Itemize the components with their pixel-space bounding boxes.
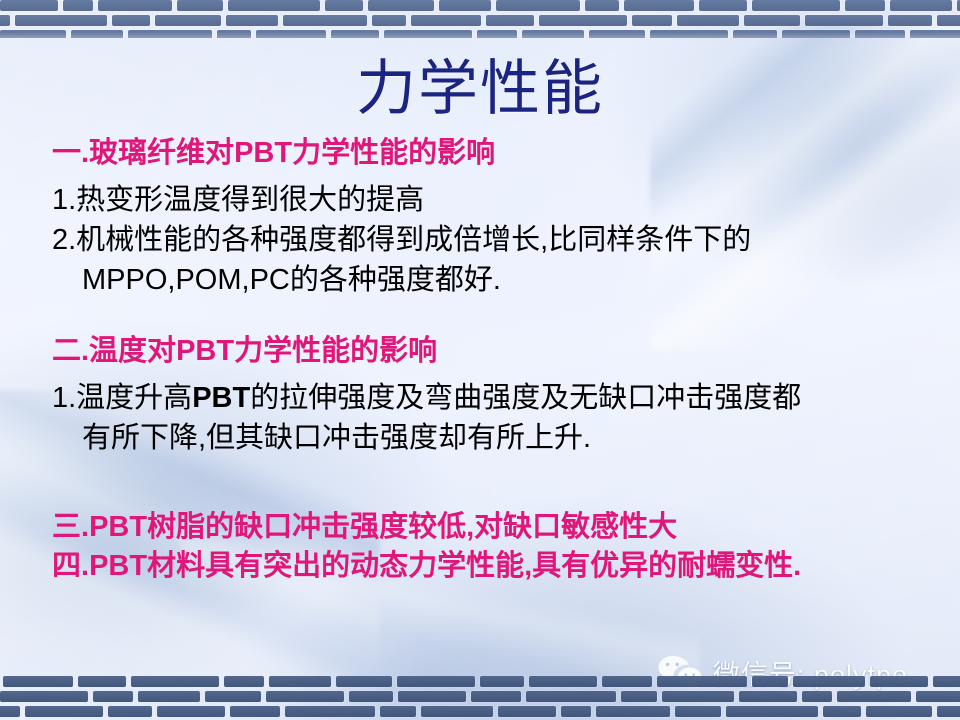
wechat-watermark: 微信号: polytpe <box>657 653 908 692</box>
wechat-logo-icon <box>657 654 703 692</box>
section-heading-2-latin: PBT <box>176 335 234 367</box>
slide-body: 一.玻璃纤维对PBT力学性能的影响 1.热变形温度得到很大的提高 2.机械性能的… <box>52 134 932 586</box>
slide-canvas: 力学性能 一.玻璃纤维对PBT力学性能的影响 1.热变形温度得到很大的提高 2.… <box>0 0 960 720</box>
section-heading-1-latin: PBT <box>234 137 292 169</box>
list-item: 有所下降,但其缺口冲击强度却有所上升. <box>52 418 932 458</box>
tail-line-4-suffix: 材料具有突出的动态力学性能,具有优异的耐蠕变性. <box>147 550 801 582</box>
section-heading-1-prefix: 一.玻璃纤维对 <box>52 137 234 169</box>
spacer <box>52 490 932 508</box>
section-heading-2-prefix: 二.温度对 <box>52 335 176 367</box>
list-item: 1.热变形温度得到很大的提高 <box>52 180 932 220</box>
section-heading-2: 二.温度对PBT力学性能的影响 <box>52 332 932 370</box>
tail-line-3-latin: PBT <box>89 511 147 543</box>
list-item-lead: 1.温度升高 <box>52 382 192 414</box>
list-item-rest: 的各种强度都好. <box>290 264 501 296</box>
page-title: 力学性能 <box>0 58 960 121</box>
tail-line-3-prefix: 三. <box>52 511 89 543</box>
spacer <box>52 300 932 332</box>
section-heading-2-suffix: 力学性能的影响 <box>234 335 437 367</box>
section-heading-1-suffix: 力学性能的影响 <box>292 137 495 169</box>
list-item: 1.温度升高PBT的拉伸强度及弯曲强度及无缺口冲击强度都 <box>52 378 932 418</box>
spacer <box>52 172 932 180</box>
section-heading-1: 一.玻璃纤维对PBT力学性能的影响 <box>52 134 932 172</box>
tail-line-4-prefix: 四. <box>52 550 89 582</box>
tail-line-3: 三.PBT树脂的缺口冲击强度较低,对缺口敏感性大 <box>52 508 932 547</box>
list-item-latin: PBT <box>192 382 250 414</box>
tail-line-4: 四.PBT材料具有突出的动态力学性能,具有优异的耐蠕变性. <box>52 547 932 586</box>
list-item-latin: MPPO,POM,PC <box>82 264 290 296</box>
list-item-rest: 的拉伸强度及弯曲强度及无缺口冲击强度都 <box>250 382 801 414</box>
spacer <box>52 458 932 490</box>
wechat-id-label: 微信号: polytpe <box>713 653 908 692</box>
list-item: 2.机械性能的各种强度都得到成倍增长,比同样条件下的 <box>52 220 932 260</box>
tail-line-4-latin: PBT <box>89 550 147 582</box>
tail-line-3-suffix: 树脂的缺口冲击强度较低,对缺口敏感性大 <box>147 511 677 543</box>
list-item: MPPO,POM,PC的各种强度都好. <box>52 260 932 300</box>
spacer <box>52 370 932 378</box>
